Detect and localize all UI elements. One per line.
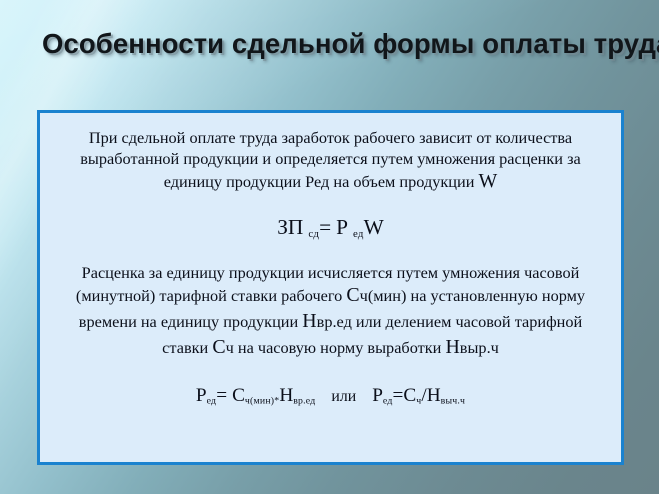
formula-rate: Ред=Сч(мин)*Нвр.едилиРед=Сч/Нвыч.ч [56, 385, 605, 407]
formula-wage-equals: = [319, 215, 331, 239]
formula-wage-rhs-sub: ед [353, 228, 364, 240]
page-title: Особенности сдельной формы оплаты труда [42, 30, 659, 58]
time-norm-symbol-h-tail: вр.ед [317, 312, 352, 331]
formula-rate-right-equals: = [393, 385, 404, 406]
formula-rate-right-h-sub: выч.ч [441, 396, 465, 407]
formula-rate-left-h-sub: вр.ед [293, 396, 315, 407]
formula-wage-rhs-rate: Р [336, 215, 348, 239]
formula-rate-left-c-sub: ч(мин)* [245, 396, 279, 407]
formula-wage: ЗПсд=РедW [56, 215, 605, 240]
formula-rate-left-base: Р [196, 385, 207, 406]
formula-rate-right-h: Н [427, 385, 441, 406]
formula-rate-left-equals: = [216, 385, 227, 406]
paragraph-rate-text-d: на часовую норму выработки [234, 338, 446, 357]
volume-symbol-w: W [479, 170, 498, 192]
rate-symbol-red: Ред [305, 172, 333, 191]
paragraph-definition: При сдельной оплате труда заработок рабо… [56, 127, 605, 195]
formula-wage-lhs: ЗП [277, 215, 303, 239]
formula-rate-conjunction: или [331, 388, 356, 405]
paragraph-rate-calculation: Расценка за единицу продукции исчисляетс… [56, 262, 605, 361]
formula-wage-lhs-sub: сд [308, 228, 319, 240]
formula-rate-right-c: С [403, 385, 416, 406]
hourly-rate-symbol-c: С [346, 284, 359, 306]
output-norm-symbol-h: Н [445, 336, 459, 358]
hourly-rate-symbol-c2-tail: ч [226, 338, 234, 357]
hourly-rate-symbol-c2: С [212, 336, 225, 358]
formula-rate-left-sub: ед [207, 396, 217, 407]
formula-rate-left-h: Н [279, 385, 293, 406]
formula-rate-right-sub: ед [383, 396, 393, 407]
formula-wage-rhs-volume: W [364, 215, 384, 239]
formula-rate-left-c: С [232, 385, 245, 406]
output-norm-symbol-h-tail: выр.ч [460, 338, 499, 357]
slide-canvas: Особенности сдельной формы оплаты труда … [0, 0, 659, 494]
content-box: При сдельной оплате труда заработок рабо… [37, 110, 624, 465]
time-norm-symbol-h: Н [302, 310, 316, 332]
formula-rate-right-base: Р [372, 385, 383, 406]
hourly-rate-symbol-c-tail: ч(мин) [360, 286, 407, 305]
title-bar: Особенности сдельной формы оплаты труда [0, 18, 659, 70]
paragraph-definition-text-b: на объем продукции [333, 172, 478, 191]
